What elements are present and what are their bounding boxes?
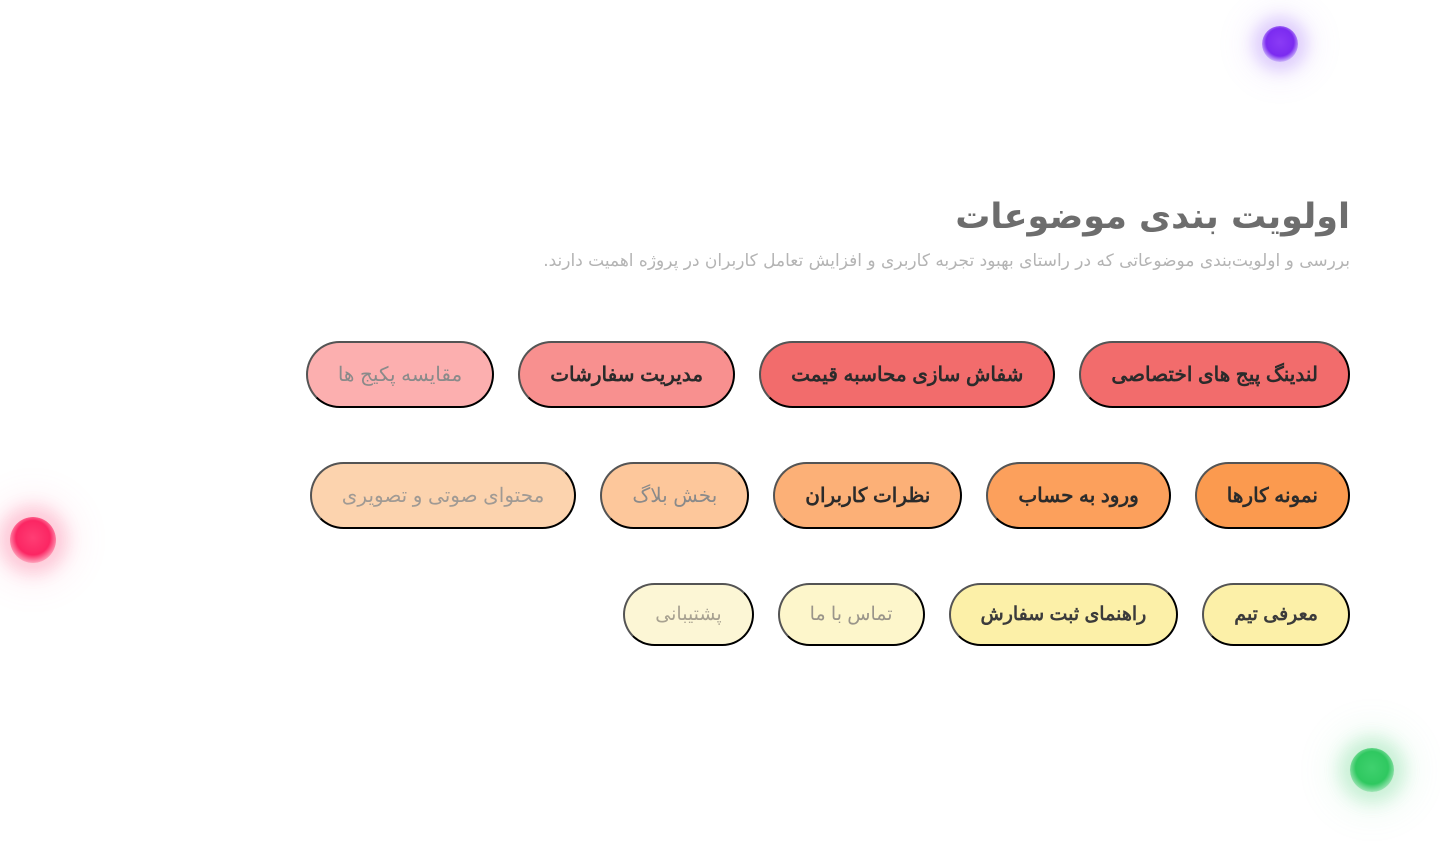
topic-pill[interactable]: لندینگ پیج های اختصاصی	[1079, 341, 1350, 408]
page-title: اولویت بندی موضوعات	[90, 196, 1350, 239]
topic-pill[interactable]: مدیریت سفارشات	[518, 341, 735, 408]
priority-row-low: معرفی تیمراهنمای ثبت سفارشتماس با ماپشتی…	[88, 583, 1350, 646]
pink-glow-orb	[10, 517, 56, 563]
priority-rows: لندینگ پیج های اختصاصیشفاش سازی محاسبه ق…	[88, 341, 1350, 646]
priority-row-medium: نمونه کارهاورود به حسابنظرات کاربرانبخش …	[88, 462, 1350, 529]
topic-pill[interactable]: نمونه کارها	[1195, 462, 1350, 529]
page-subtitle: بررسی و اولویت‌بندی موضوعاتی که در راستا…	[90, 249, 1350, 274]
green-glow-orb	[1350, 748, 1394, 792]
priority-row-high: لندینگ پیج های اختصاصیشفاش سازی محاسبه ق…	[88, 341, 1350, 408]
topic-pill[interactable]: ورود به حساب	[986, 462, 1170, 529]
topic-pill[interactable]: نظرات کاربران	[773, 462, 962, 529]
topic-pill[interactable]: راهنمای ثبت سفارش	[949, 583, 1179, 646]
topic-pill[interactable]: شفاش سازی محاسبه قیمت	[759, 341, 1055, 408]
topic-pill[interactable]: تماس با ما	[778, 583, 925, 646]
topic-pill[interactable]: محتوای صوتی و تصویری	[310, 462, 577, 529]
purple-glow-orb	[1262, 26, 1298, 62]
topic-pill[interactable]: پشتیبانی	[623, 583, 753, 646]
topic-pill[interactable]: معرفی تیم	[1202, 583, 1350, 646]
header-block: اولویت بندی موضوعات بررسی و اولویت‌بندی …	[90, 196, 1350, 273]
topic-pill[interactable]: بخش بلاگ	[600, 462, 749, 529]
topic-pill[interactable]: مقایسه پکیج ها	[306, 341, 494, 408]
